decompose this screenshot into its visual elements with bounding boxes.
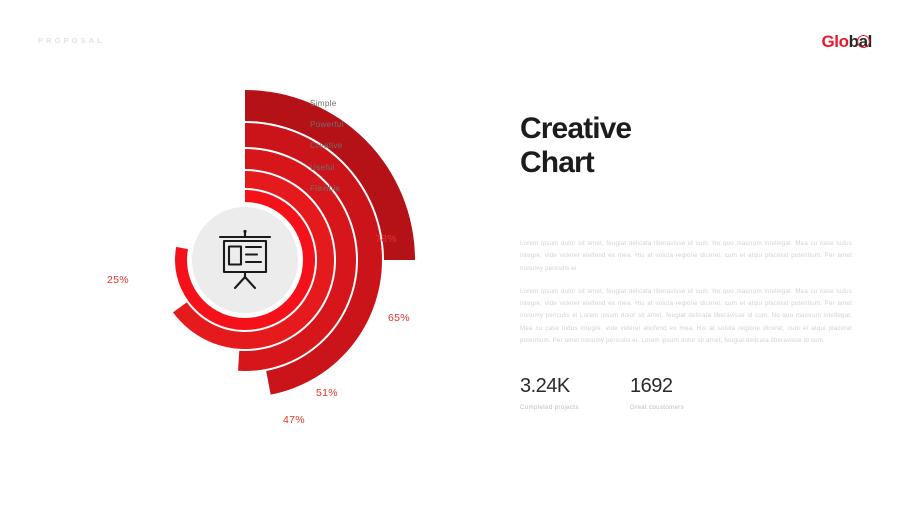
- radial-chart: Simple Powerful Creative Useful Flexible…: [0, 60, 470, 460]
- content-column: Creative Chart Lorem ipsum dolor sit ame…: [520, 0, 880, 506]
- stat-completed-projects: 3.24K Completed projects: [520, 374, 630, 411]
- stat-label: Great coustomers: [630, 404, 740, 411]
- stat-label: Completed projects: [520, 404, 630, 411]
- legend-item-useful[interactable]: Useful: [310, 162, 344, 183]
- value-label-powerful-47: 47%: [283, 414, 305, 426]
- legend-item-powerful[interactable]: Powerful: [310, 119, 344, 140]
- stat-value: 1692: [630, 374, 740, 398]
- slide-root: PROPOSAL Global Simple Power: [0, 0, 900, 506]
- page-title: Creative Chart: [520, 112, 850, 180]
- legend-item-flexible[interactable]: Flexible: [310, 183, 344, 204]
- value-label-flexible-78: 78%: [375, 233, 397, 245]
- body-copy: Lorem ipsum dolor sit amet, feugiat deli…: [520, 238, 852, 358]
- legend-item-creative[interactable]: Creative: [310, 140, 344, 161]
- title-line-2: Chart: [520, 146, 850, 180]
- kicker-label: PROPOSAL: [38, 36, 105, 45]
- stat-value: 3.24K: [520, 374, 630, 398]
- paragraph-1: Lorem ipsum dolor sit amet, feugiat deli…: [520, 238, 852, 275]
- stats-row: 3.24K Completed projects 1692 Great cous…: [520, 374, 740, 411]
- value-label-simple-25: 25%: [107, 274, 129, 286]
- radial-chart-svg: [0, 60, 470, 460]
- center-disc: [192, 207, 298, 313]
- paragraph-2: Lorem ipsum dolor sit amet, feugiat deli…: [520, 286, 852, 347]
- legend-item-simple[interactable]: Simple: [310, 98, 344, 119]
- stat-great-customers: 1692 Great coustomers: [630, 374, 740, 411]
- chart-legend: Simple Powerful Creative Useful Flexible: [310, 98, 344, 204]
- value-label-useful-65: 65%: [388, 312, 410, 324]
- title-line-1: Creative: [520, 112, 850, 146]
- value-label-creative-51: 51%: [316, 387, 338, 399]
